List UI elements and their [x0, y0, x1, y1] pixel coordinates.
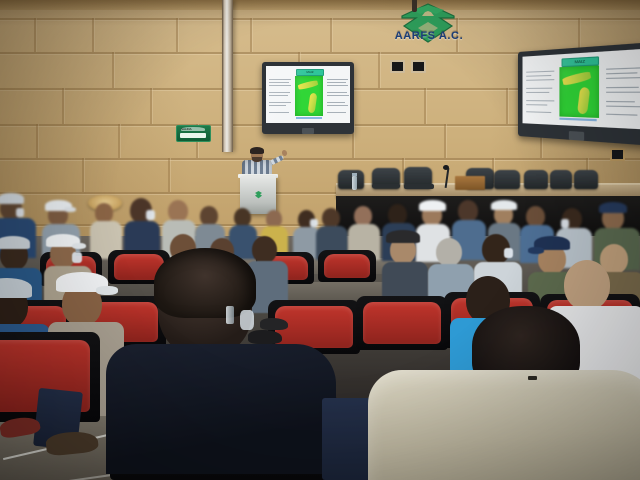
podium-emblem-icon [254, 187, 263, 196]
metal-column [222, 0, 233, 152]
shirt-collar-detail [528, 376, 537, 380]
attendee-sandal [248, 330, 282, 344]
curly-hair [154, 248, 256, 318]
wall-shadow-top [0, 0, 640, 26]
wall-outlet-icon [390, 60, 405, 73]
exit-sign: SALIDA [176, 125, 211, 142]
wall-mortar-line [378, 52, 380, 88]
screen-glare [523, 49, 640, 130]
dais-chair [494, 170, 520, 189]
screen-mount [569, 131, 584, 141]
venue-logo-text: AARFS A.C. [386, 30, 472, 46]
screen-mount [302, 128, 314, 134]
auditorium-seat-cushion [363, 302, 441, 344]
wall-outlet-icon [610, 148, 625, 161]
projection-screen-center: MAIZ [262, 62, 354, 134]
dais-microphone-head [443, 165, 449, 170]
face-mask-strap [240, 310, 254, 330]
speaker-beard [252, 157, 262, 162]
exit-sign-pictogram-icon [180, 133, 206, 138]
wall-mortar-line [424, 88, 426, 124]
dais-chair [524, 170, 548, 189]
exit-sign-label: SALIDA [181, 127, 205, 131]
attendee-sandal [260, 318, 288, 330]
water-bottle [352, 176, 357, 190]
water-bottle [226, 306, 234, 324]
projection-screen-right: MAIZ [518, 42, 640, 146]
wooden-lectern-box [455, 176, 485, 190]
dais-chair [574, 170, 598, 189]
speaker-hair [250, 147, 264, 154]
water-bottle-cap [352, 173, 357, 176]
auditorium-seat-cushion [324, 254, 370, 278]
screen-glare [266, 66, 350, 123]
wall-mortar-line [444, 124, 446, 158]
dais-chair [338, 170, 364, 189]
ceiling-fitting [412, 0, 417, 12]
photo-canvas: AARFS A.C. SALIDA MAIZ [0, 0, 640, 480]
dais-chair [550, 170, 572, 189]
wall-outlet-icon [411, 60, 426, 73]
